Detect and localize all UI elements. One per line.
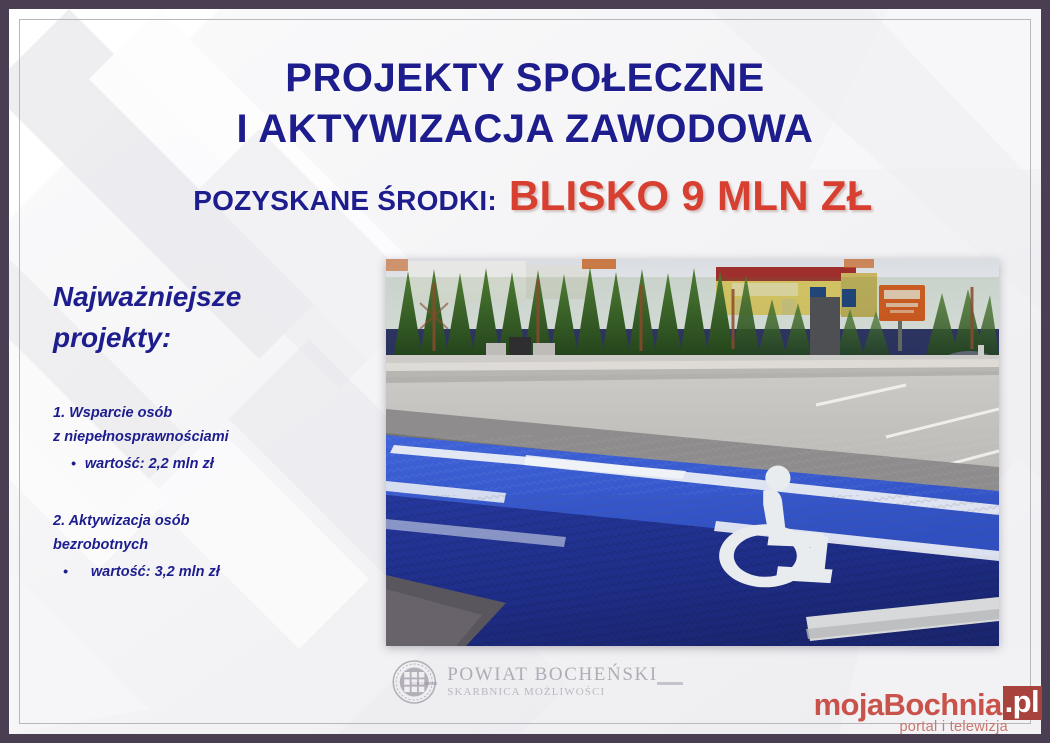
funding-amount: BLISKO 9 MLN ZŁ xyxy=(509,172,873,220)
projects-column: Najważniejsze projekty: 1. Wsparcie osób… xyxy=(53,277,353,618)
project-bullet-label: wartość: 3,2 mln zł xyxy=(77,564,220,580)
page-title-line-2: I AKTYWIZACJA ZAWODOWA xyxy=(9,104,1041,155)
footer-rule-right xyxy=(657,682,683,685)
project-bullet-label: wartość: 2,2 mln zł xyxy=(85,456,214,472)
project-bullet: • wartość: 2,2 mln zł xyxy=(53,456,353,472)
powiat-bochenski-logo: POWIAT BOCHEŃSKI SKARBNICA MOŻLIWOŚCI xyxy=(392,660,658,704)
heading-block: PROJEKTY SPOŁECZNE I AKTYWIZACJA ZAWODOW… xyxy=(9,53,1041,220)
funding-label: POZYSKANE ŚRODKI: xyxy=(193,185,497,217)
page-title-line-1: PROJEKTY SPOŁECZNE xyxy=(9,53,1041,104)
project-title: 2. Aktywizacja osób bezrobotnych xyxy=(53,510,353,557)
bullet-dot-icon: • xyxy=(71,456,76,472)
projects-list: 1. Wsparcie osób z niepełnosprawnościami… xyxy=(53,402,353,580)
list-item: 1. Wsparcie osób z niepełnosprawnościami… xyxy=(53,402,353,472)
projects-lead-heading: Najważniejsze projekty: xyxy=(53,277,353,358)
mojabochnia-logo[interactable]: mojaBochnia .pl portal i telewizja xyxy=(814,686,1042,735)
project-bullet: • wartość: 3,2 mln zł xyxy=(53,564,353,580)
powiat-name: POWIAT BOCHEŃSKI xyxy=(447,665,658,685)
mojabochnia-word: mojaBochnia xyxy=(814,690,1002,720)
slide-page: PROJEKTY SPOŁECZNE I AKTYWIZACJA ZAWODOW… xyxy=(9,9,1041,734)
bullet-dot-icon: • xyxy=(63,564,68,580)
mojabochnia-wordmark: mojaBochnia .pl xyxy=(814,686,1042,720)
slide-root: PROJEKTY SPOŁECZNE I AKTYWIZACJA ZAWODOW… xyxy=(0,0,1050,743)
powiat-seal-icon xyxy=(392,660,436,704)
mojabochnia-tld: .pl xyxy=(1003,686,1042,720)
list-item: 2. Aktywizacja osób bezrobotnych • warto… xyxy=(53,510,353,580)
powiat-tagline: SKARBNICA MOŻLIWOŚCI xyxy=(447,687,658,699)
powiat-wordmark: POWIAT BOCHEŃSKI SKARBNICA MOŻLIWOŚCI xyxy=(447,665,658,698)
photo-accessible-parking xyxy=(386,259,999,646)
funding-row: POZYSKANE ŚRODKI: BLISKO 9 MLN ZŁ xyxy=(9,172,1041,220)
project-title: 1. Wsparcie osób z niepełnosprawnościami xyxy=(53,402,353,449)
